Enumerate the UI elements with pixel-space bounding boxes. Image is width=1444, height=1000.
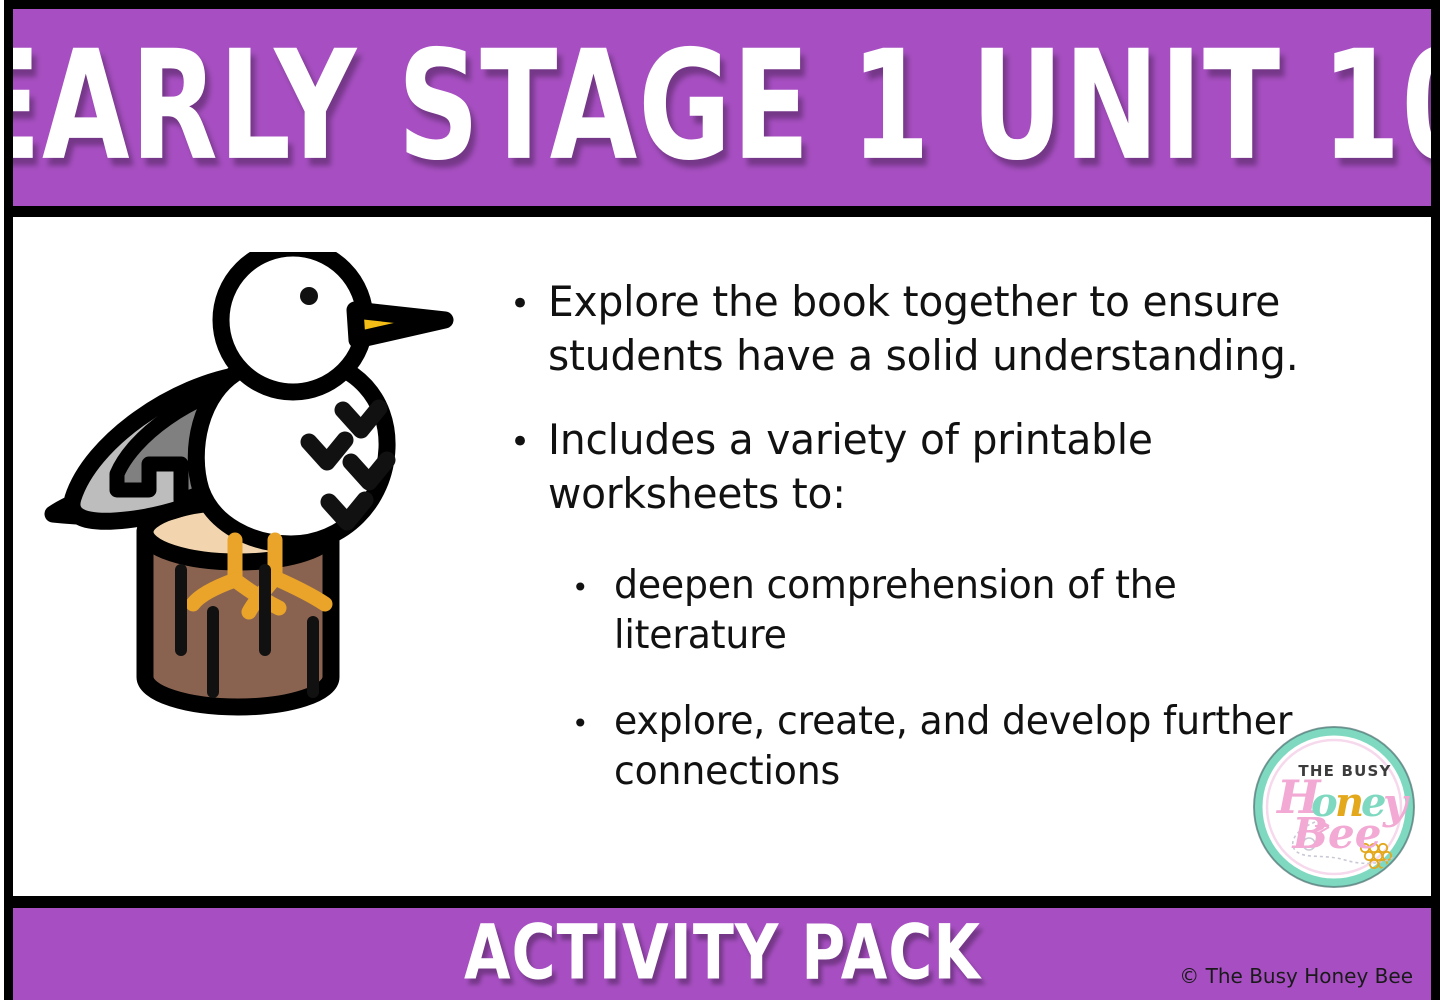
bird-head bbox=[221, 252, 365, 392]
bird-beak bbox=[355, 310, 445, 340]
feature-bullet-list: • Explore the book together to ensure st… bbox=[496, 275, 1376, 833]
bird-eye bbox=[300, 287, 318, 305]
bullet-item: • Includes a variety of printable worksh… bbox=[496, 413, 1376, 521]
sub-bullet-marker-icon: • bbox=[564, 697, 614, 751]
logo-line-bottom: Bee bbox=[1292, 809, 1382, 858]
footer-band: ACTIVITY PACK © The Busy Honey Bee bbox=[13, 896, 1431, 1000]
sub-bullet-text: explore, create, and develop further con… bbox=[614, 697, 1353, 797]
sub-bullet-item: • deepen comprehension of the literature bbox=[564, 561, 1376, 661]
activity-pack-cover: EARLY STAGE 1 UNIT 10 bbox=[0, 0, 1444, 1000]
footer-title-text: ACTIVITY PACK bbox=[464, 915, 981, 991]
bullet-marker-icon: • bbox=[496, 413, 548, 471]
copyright-notice: © The Busy Honey Bee bbox=[1179, 966, 1413, 986]
sub-bullet-text: deepen comprehension of the literature bbox=[614, 561, 1353, 661]
bullet-text: Explore the book together to ensure stud… bbox=[548, 275, 1351, 383]
page-title: EARLY STAGE 1 UNIT 10 bbox=[13, 29, 1431, 185]
the-busy-honey-bee-logo: THE BUSY H o n e y Bee bbox=[1253, 726, 1415, 888]
seagull-on-tree-stump-illustration bbox=[13, 252, 483, 872]
bullet-marker-icon: • bbox=[496, 275, 548, 333]
sub-bullet-marker-icon: • bbox=[564, 561, 614, 615]
content-area: • Explore the book together to ensure st… bbox=[13, 217, 1431, 896]
header-band: EARLY STAGE 1 UNIT 10 bbox=[13, 9, 1431, 217]
svg-text:y: y bbox=[1382, 779, 1410, 828]
bullet-item: • Explore the book together to ensure st… bbox=[496, 275, 1376, 383]
bullet-text: Includes a variety of printable workshee… bbox=[548, 413, 1351, 521]
